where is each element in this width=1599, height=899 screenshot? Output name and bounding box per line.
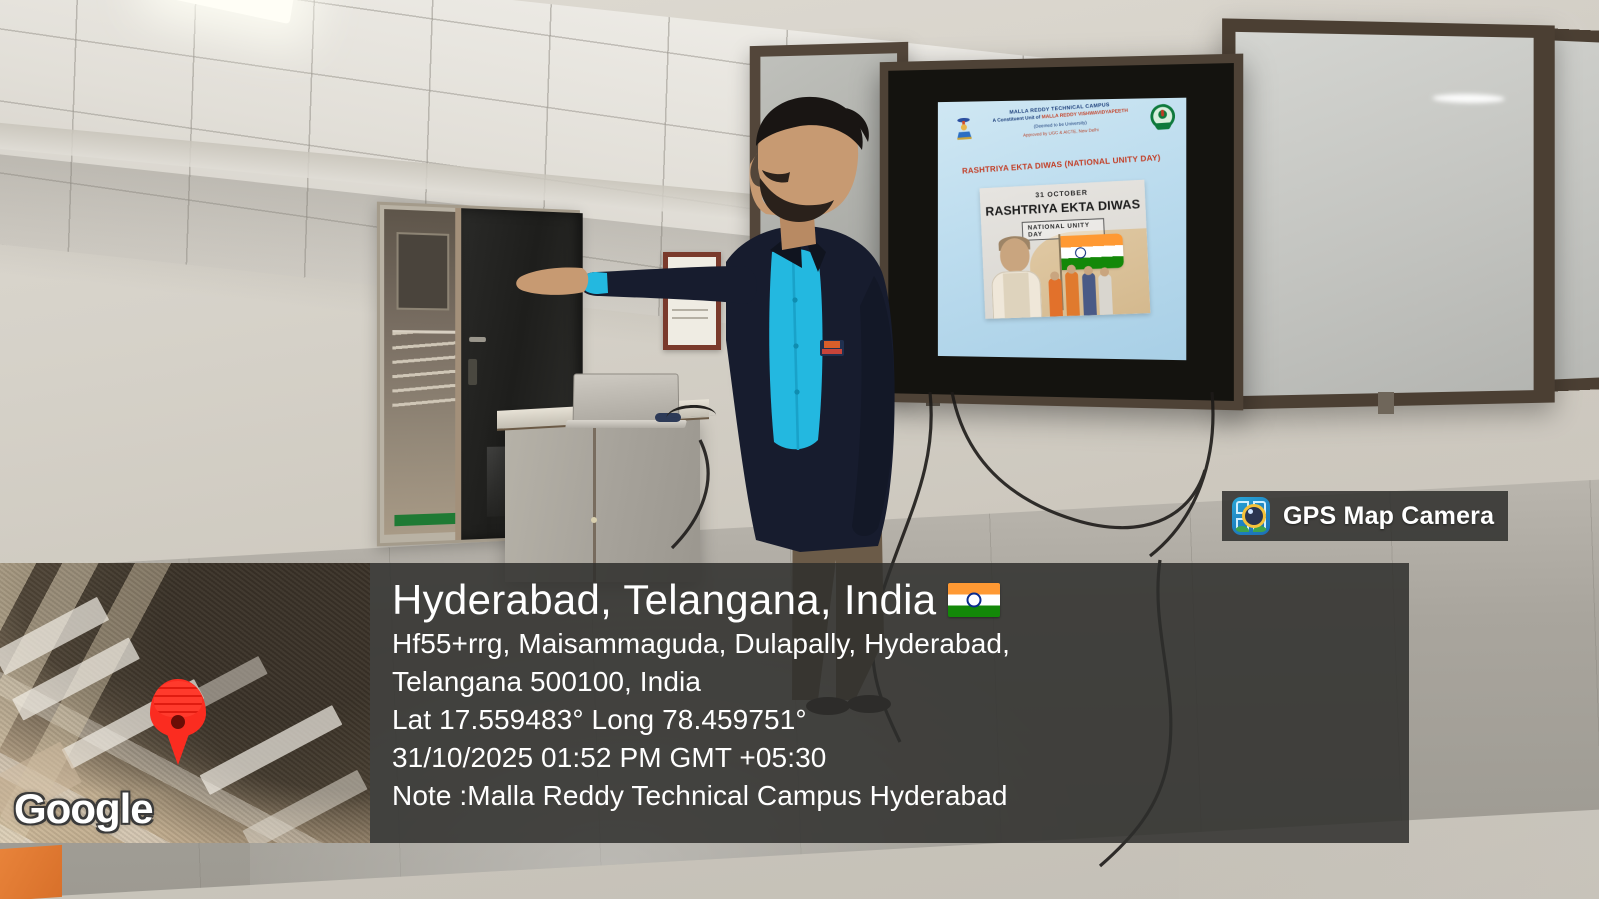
presentation-slide: MALLA REDDY TECHNICAL CAMPUS A Constitue… [938, 98, 1186, 361]
camera-lens-shape [1242, 504, 1266, 528]
address-line-2: Telangana 500100, India [392, 663, 1391, 701]
podium-knob [591, 517, 597, 523]
timestamp-line: 31/10/2025 01:52 PM GMT +05:30 [392, 739, 1391, 777]
poster-person [1082, 273, 1097, 316]
gps-camera-icon [1232, 497, 1270, 535]
map-pin-icon [150, 679, 206, 765]
whiteboard-mount-right [1378, 392, 1394, 414]
address-line-1: Hf55+rrg, Maisammaguda, Dulapally, Hyder… [392, 625, 1391, 663]
podium-lectern-icon [505, 417, 700, 582]
gps-info-panel: Google Hyderabad, Telangana, India Hf55+… [0, 563, 1409, 843]
location-title-row: Hyderabad, Telangana, India [392, 575, 1391, 625]
gps-text-block: Hyderabad, Telangana, India Hf55+rrg, Ma… [370, 563, 1409, 843]
corridor-view [384, 209, 457, 535]
whiteboard-right-icon [1222, 18, 1555, 409]
slide-poster-image: 31 OCTOBER RASHTRIYA EKTA DIWAS NATIONAL… [980, 180, 1151, 319]
gps-map-camera-branding: GPS Map Camera [1222, 491, 1508, 541]
app-name-label: GPS Map Camera [1283, 502, 1494, 531]
orange-mat [0, 845, 62, 899]
poster-person [1048, 278, 1063, 316]
slide-title: RASHTRIYA EKTA DIWAS (NATIONAL UNITY DAY… [938, 151, 1186, 177]
door-lock-plate [468, 359, 477, 385]
india-flag-emoji-icon [948, 583, 1000, 617]
sardar-patel-portrait-icon [988, 237, 1045, 319]
podium-edge [593, 423, 596, 582]
corridor-window [397, 232, 450, 310]
projection-screen-icon: MALLA REDDY TECHNICAL CAMPUS A Constitue… [880, 54, 1243, 411]
door-handle-icon [469, 337, 486, 342]
framed-notice-icon [663, 252, 721, 350]
slide-header: MALLA REDDY TECHNICAL CAMPUS A Constitue… [938, 98, 1186, 146]
google-watermark: Google [14, 785, 153, 833]
corridor-railing [392, 332, 457, 412]
coordinates-line: Lat 17.559483° Long 78.459751° [392, 701, 1391, 739]
note-line: Note :Malla Reddy Technical Campus Hyder… [392, 777, 1391, 815]
map-thumbnail[interactable]: Google [0, 563, 370, 843]
poster-person [1098, 274, 1113, 315]
poster-person [1065, 271, 1080, 316]
screenshot-root: MALLA REDDY TECHNICAL CAMPUS A Constitue… [0, 0, 1599, 899]
corridor-green-strip [394, 513, 455, 526]
whiteboard-glare [1433, 94, 1505, 104]
location-title: Hyderabad, Telangana, India [392, 575, 936, 625]
